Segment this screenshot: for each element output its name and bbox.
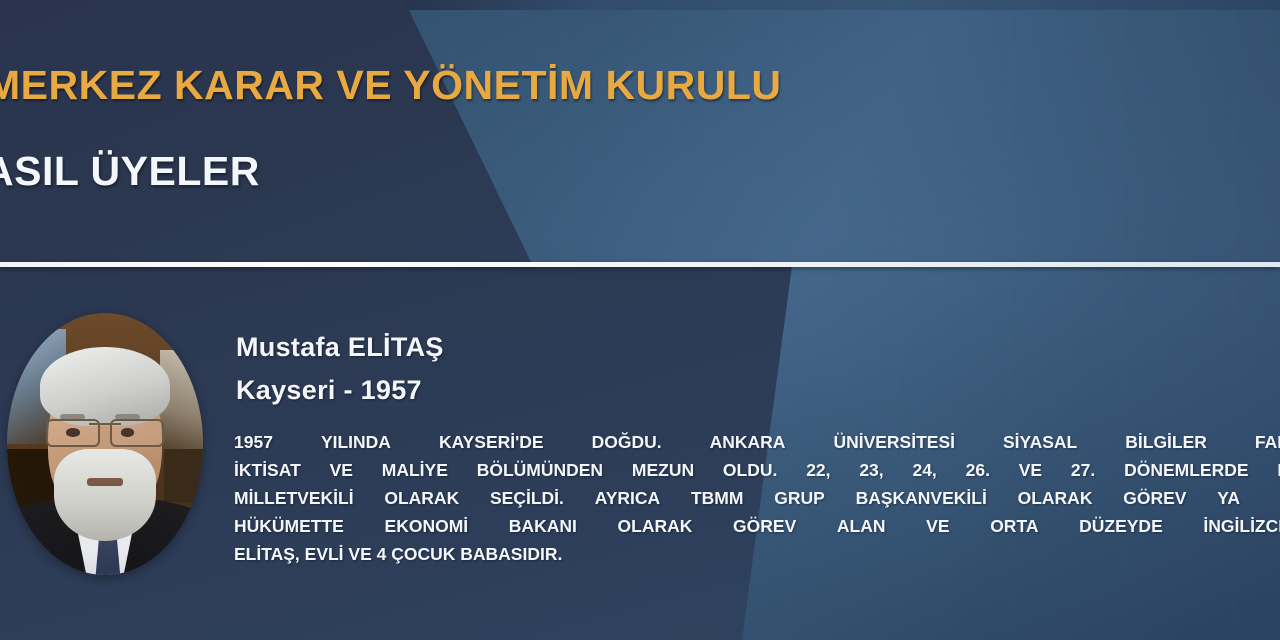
bio-word: TBMM (691, 484, 743, 512)
bio-word: OLARAK (618, 512, 693, 540)
header-divider (0, 262, 1280, 267)
bio-word: BİLGİLER (1125, 428, 1207, 456)
bio-word: 23, (859, 456, 883, 484)
bio-word: HÜKÜMETTE (234, 512, 344, 540)
slide-canvas: MERKEZ KARAR VE YÖNETİM KURULU ASIL ÜYEL… (0, 0, 1280, 640)
person-name: Mustafa ELİTAŞ (236, 332, 444, 363)
bio-word: 27. (1071, 456, 1095, 484)
bio-line: 1957YILINDAKAYSERİ'DEDOĞDU.ANKARAÜNİVERS… (234, 428, 1280, 456)
bio-word: SEÇİLDİ. (490, 484, 564, 512)
bio-word: VE (926, 512, 949, 540)
bio-word: MEZUN (632, 456, 694, 484)
bio-word: ALAN (837, 512, 886, 540)
bio-word: OLDU. (723, 456, 777, 484)
bio-word: BAŞKANVEKİLİ (856, 484, 987, 512)
bio-word: ORTA (990, 512, 1038, 540)
bio-word: FAK (1255, 428, 1280, 456)
bio-word: ANKARA (710, 428, 786, 456)
bio-line: MİLLETVEKİLİOLARAKSEÇİLDİ.AYRICATBMMGRUP… (234, 484, 1240, 512)
bio-word: 1957 (234, 428, 273, 456)
bio-word: EKONOMİ (385, 512, 469, 540)
bio-word: VE (330, 456, 353, 484)
page-subtitle: ASIL ÜYELER (0, 148, 260, 195)
bio-line: İKTİSATVEMALİYEBÖLÜMÜNDENMEZUNOLDU.22,23… (234, 456, 1280, 484)
bio-word: VE (1019, 456, 1042, 484)
bio-word: OLARAK (384, 484, 459, 512)
bio-word: YA (1217, 484, 1240, 512)
bio-word: BÖLÜMÜNDEN (477, 456, 603, 484)
bio-word: AYRICA (595, 484, 660, 512)
page-title: MERKEZ KARAR VE YÖNETİM KURULU (0, 62, 782, 109)
bio-word: KAYSERİ'DE (439, 428, 544, 456)
bio-word: GÖREV (733, 512, 796, 540)
bio-word: DÜZEYDE (1079, 512, 1163, 540)
bio-word: 26. (966, 456, 990, 484)
portrait-fade-overlay (7, 313, 203, 575)
person-biography: 1957YILINDAKAYSERİ'DEDOĞDU.ANKARAÜNİVERS… (234, 428, 1280, 568)
bio-word: BAKANI (509, 512, 577, 540)
bio-word: ÜNİVERSİTESİ (833, 428, 955, 456)
person-place-year: Kayseri - 1957 (236, 375, 422, 406)
bio-word: DÖNEMLERDE (1124, 456, 1248, 484)
avatar (7, 313, 203, 575)
bio-word: SİYASAL (1003, 428, 1077, 456)
bio-word: GRUP (774, 484, 825, 512)
bio-word: 22, (806, 456, 830, 484)
bio-word: OLARAK (1018, 484, 1093, 512)
bio-word: İNGİLİZCE (1203, 512, 1280, 540)
bio-word: YILINDA (321, 428, 391, 456)
bio-word: MİLLETVEKİLİ (234, 484, 354, 512)
bio-line: ELİTAŞ, EVLİ VE 4 ÇOCUK BABASIDIR. (234, 540, 1280, 568)
bio-word: GÖREV (1123, 484, 1186, 512)
bio-line: HÜKÜMETTEEKONOMİBAKANIOLARAKGÖREVALANVEO… (234, 512, 1280, 540)
bio-word: 24, (912, 456, 936, 484)
bio-word: İKTİSAT (234, 456, 301, 484)
bio-word: MALİYE (382, 456, 448, 484)
bio-word: DOĞDU. (592, 428, 662, 456)
